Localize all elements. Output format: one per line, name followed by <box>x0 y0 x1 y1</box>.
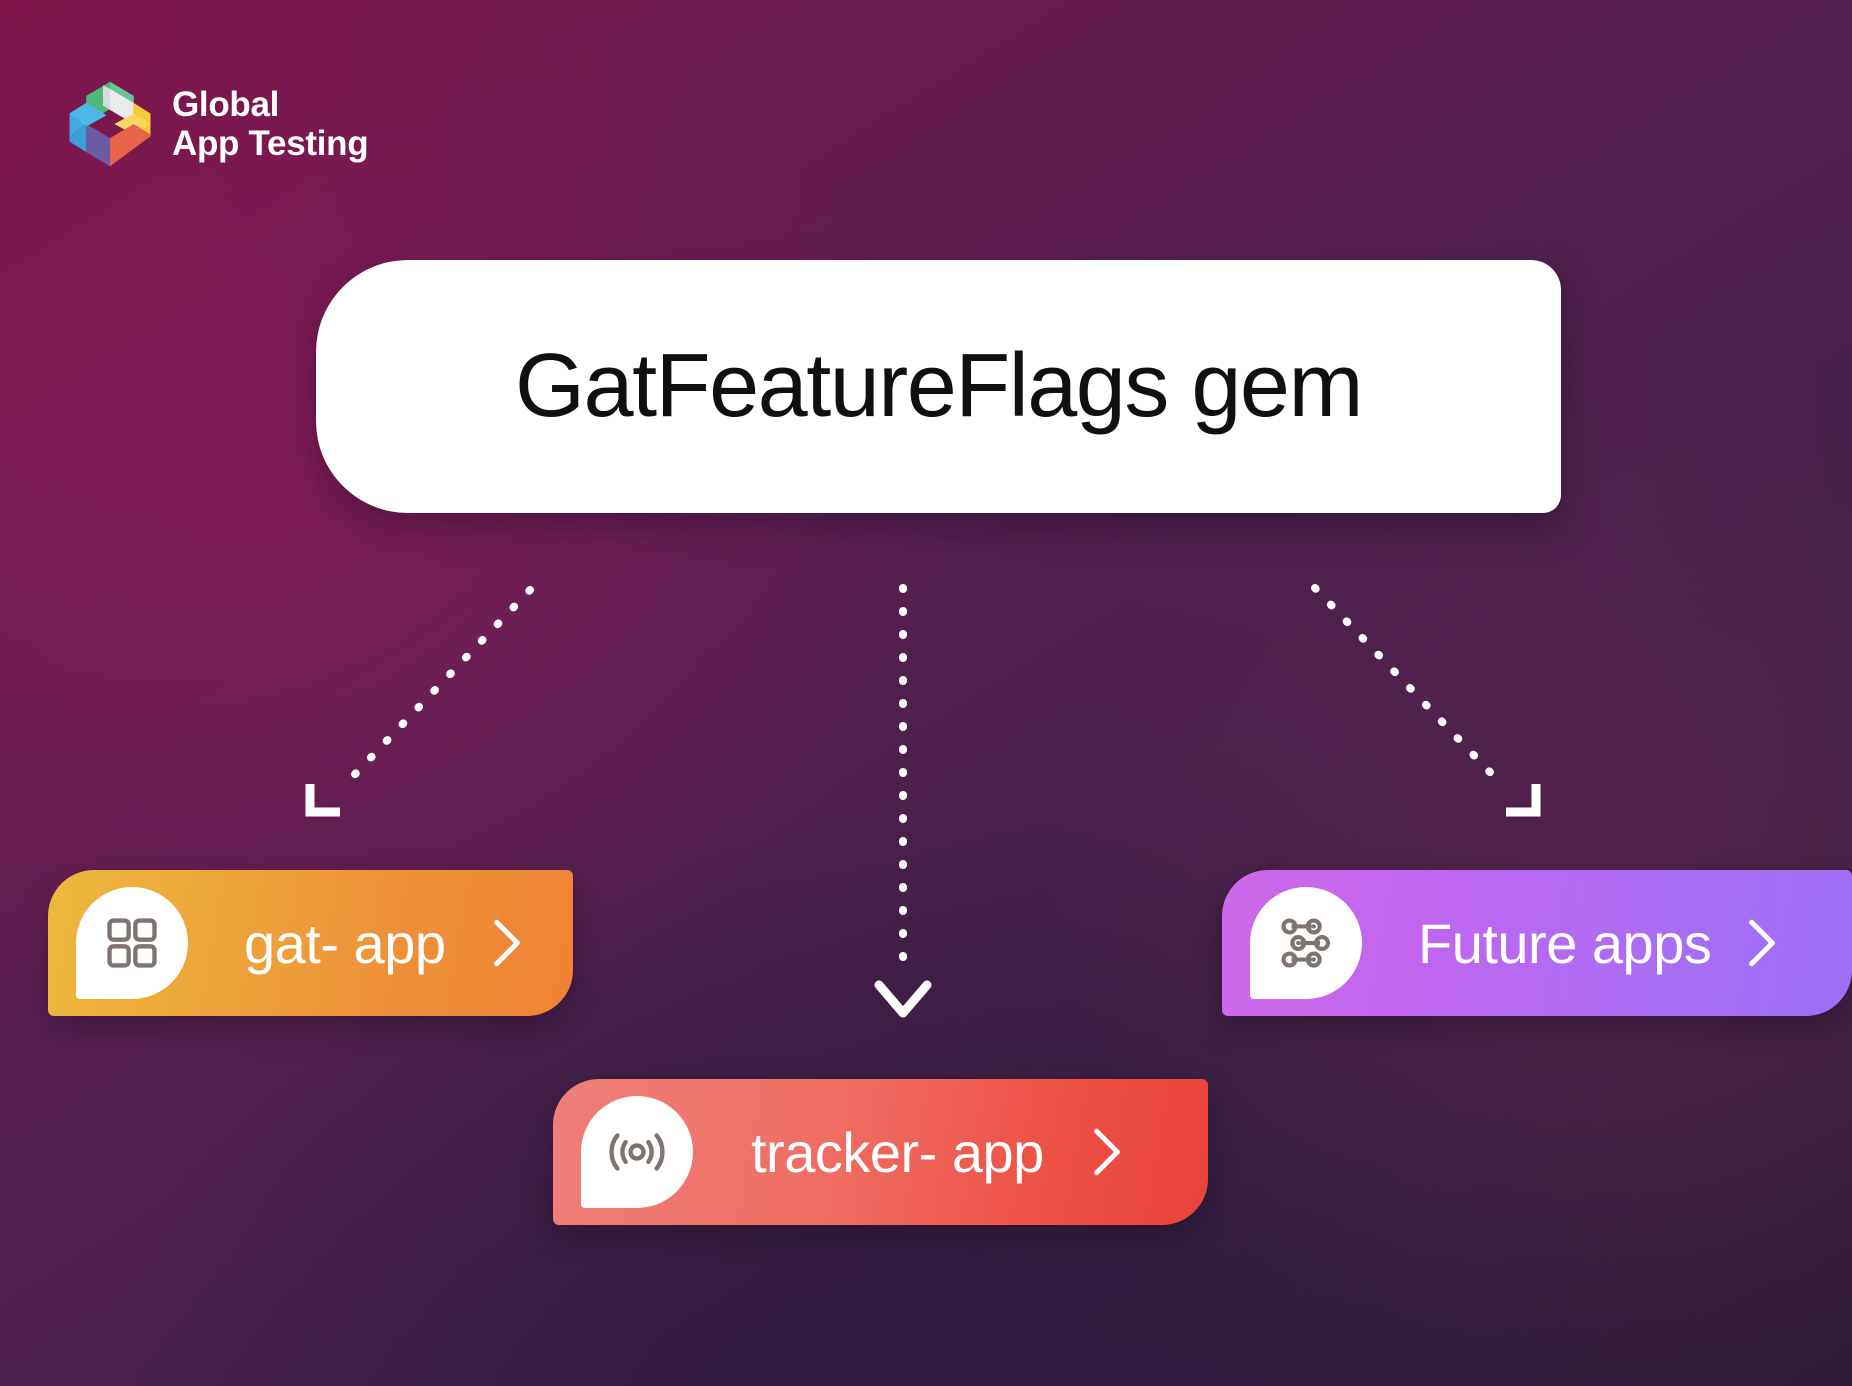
broadcast-signal-icon <box>581 1096 693 1208</box>
connector-to-future-apps <box>1315 588 1536 812</box>
chip-gat-app[interactable]: gat- app <box>48 870 573 1016</box>
chip-label-gat-app: gat- app <box>244 911 446 976</box>
connector-to-gat-app <box>310 590 530 812</box>
hexagon-cube-logo-icon <box>66 78 154 170</box>
page-title: GatFeatureFlags gem <box>515 335 1362 438</box>
brand-logo: Global App Testing <box>66 78 368 170</box>
brand-name: Global App Testing <box>172 85 368 163</box>
chevron-right-icon[interactable] <box>1090 1125 1124 1179</box>
chip-label-tracker-app: tracker- app <box>751 1120 1044 1185</box>
chip-future-apps[interactable]: Future apps <box>1222 870 1852 1016</box>
chevron-right-icon[interactable] <box>490 916 524 970</box>
chip-tracker-app[interactable]: tracker- app <box>553 1079 1208 1225</box>
diagram-canvas: Global App Testing GatFeatureFlags gem <box>0 0 1852 1386</box>
title-card: GatFeatureFlags gem <box>316 260 1561 513</box>
network-nodes-icon <box>1250 887 1362 999</box>
chip-label-future-apps: Future apps <box>1418 911 1711 976</box>
connector-to-tracker-app <box>879 588 927 1013</box>
grid-2x2-icon <box>76 887 188 999</box>
chevron-right-icon[interactable] <box>1745 916 1779 970</box>
